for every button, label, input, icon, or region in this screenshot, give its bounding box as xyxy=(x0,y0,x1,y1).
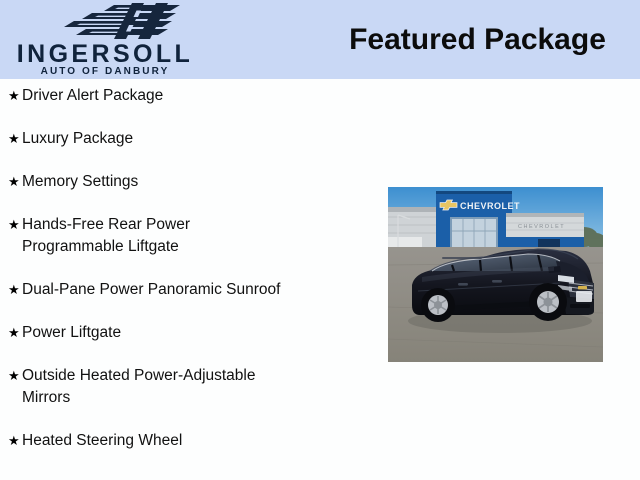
list-item-label: Driver Alert Package xyxy=(22,85,169,107)
star-icon: ★ xyxy=(0,365,22,387)
page-title: Featured Package xyxy=(330,22,625,58)
list-item-label: Power Liftgate xyxy=(22,322,127,344)
list-item: ★ Outside Heated Power-Adjustable Mirror… xyxy=(0,365,370,409)
svg-text:CHEVROLET: CHEVROLET xyxy=(518,224,565,230)
list-item: ★ Driver Alert Package xyxy=(0,85,370,107)
list-item-label: Outside Heated Power-Adjustable Mirrors xyxy=(22,365,262,409)
star-icon: ★ xyxy=(0,430,22,452)
star-icon: ★ xyxy=(0,128,22,150)
star-icon: ★ xyxy=(0,279,22,301)
header-band: INGERSOLL AUTO OF DANBURY Featured Packa… xyxy=(0,0,640,79)
dealer-tagline: AUTO OF DANBURY xyxy=(6,66,204,77)
list-item-label: Memory Settings xyxy=(22,171,144,193)
svg-text:CHEVROLET: CHEVROLET xyxy=(460,201,520,211)
list-item: ★ Memory Settings xyxy=(0,171,370,193)
list-item: ★ Hands-Free Rear Power Programmable Lif… xyxy=(0,214,370,258)
feature-list: ★ Driver Alert Package ★ Luxury Package … xyxy=(0,85,370,473)
star-icon: ★ xyxy=(0,322,22,344)
dealer-logo: INGERSOLL AUTO OF DANBURY xyxy=(0,0,210,79)
list-item: ★ Power Liftgate xyxy=(0,322,370,344)
list-item-label: Hands-Free Rear Power Programmable Liftg… xyxy=(22,214,196,258)
list-item-label: Heated Steering Wheel xyxy=(22,430,188,452)
list-item: ★ Heated Steering Wheel xyxy=(0,430,370,452)
star-icon: ★ xyxy=(0,214,22,236)
list-item: ★ Luxury Package xyxy=(0,128,370,150)
dealer-wordmark: INGERSOLL xyxy=(6,41,204,67)
list-item-label: Luxury Package xyxy=(22,128,139,150)
star-icon: ★ xyxy=(0,85,22,107)
ingersoll-winged-emblem-icon xyxy=(52,3,200,39)
vehicle-photo: CHEVROLET CHEVROLET xyxy=(388,187,603,362)
list-item: ★ Dual-Pane Power Panoramic Sunroof xyxy=(0,279,370,301)
list-item-label: Dual-Pane Power Panoramic Sunroof xyxy=(22,279,286,301)
star-icon: ★ xyxy=(0,171,22,193)
